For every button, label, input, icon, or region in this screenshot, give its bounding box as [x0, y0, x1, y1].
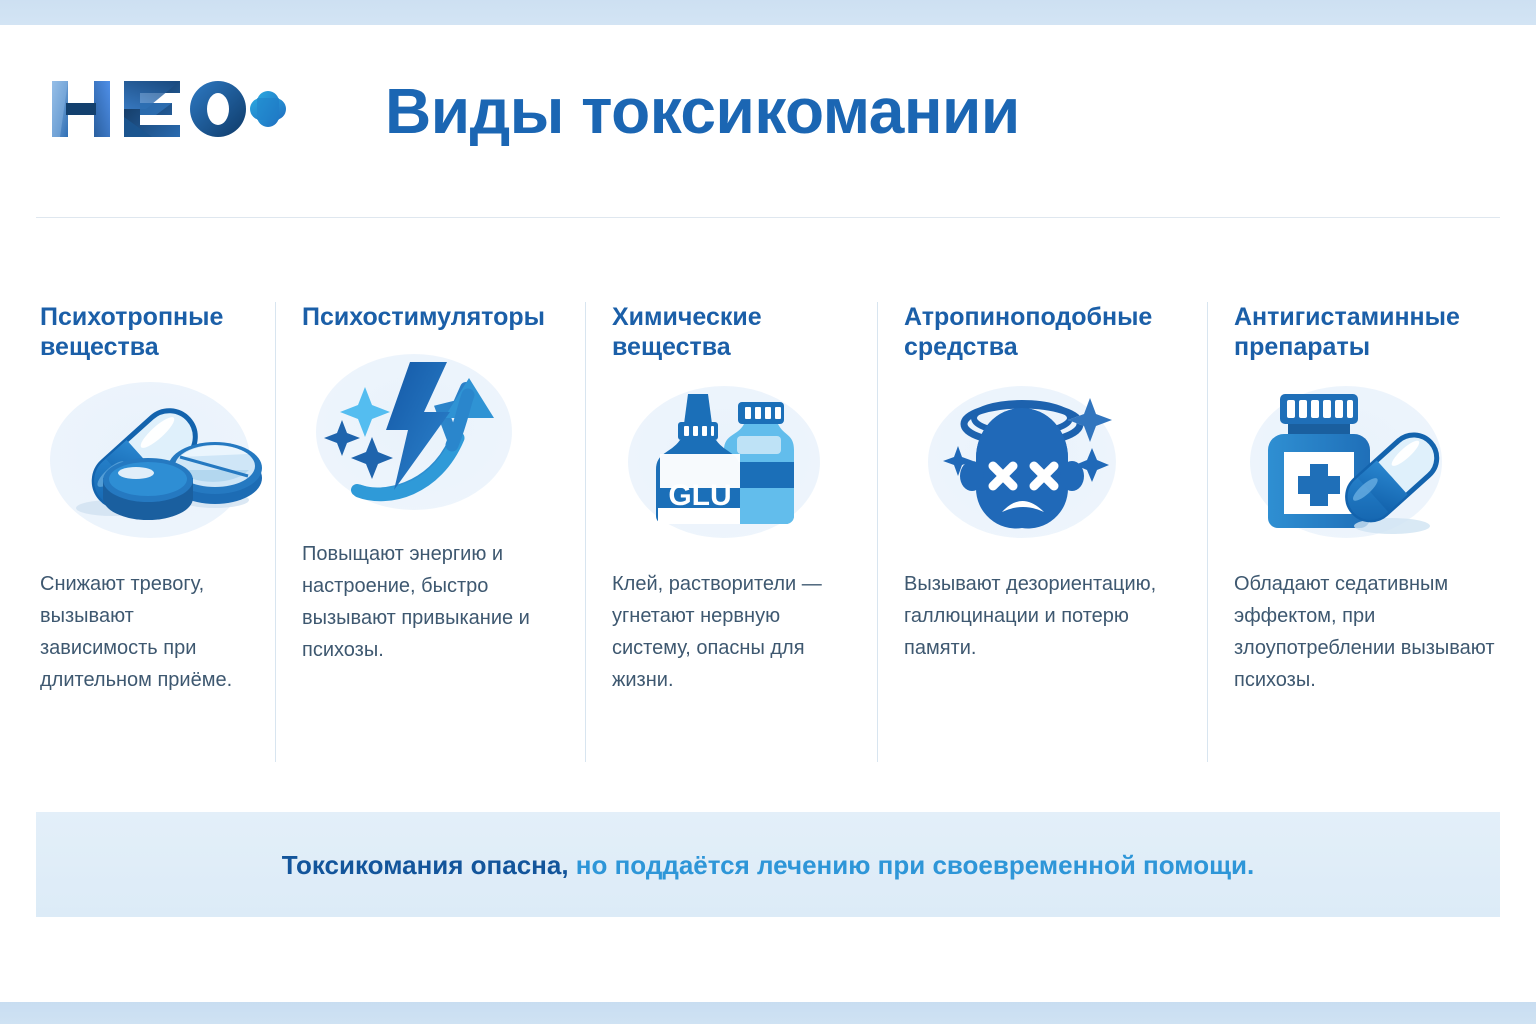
glue-solvent-bottles-icon: GLU — [612, 380, 852, 550]
medicine-bottle-capsule-icon — [1234, 380, 1506, 550]
neo-plus-logo — [46, 73, 286, 145]
top-decor-band — [0, 0, 1536, 25]
page-title: Виды токсикомании — [385, 73, 1020, 149]
bottom-decor-band — [0, 1002, 1536, 1024]
column-heading: Психотропные вещества — [40, 302, 250, 362]
column-heading: Психостимуляторы — [302, 302, 560, 332]
lightning-bolt-arrow-icon — [302, 350, 560, 520]
summary-banner: Токсикомания опасна, но поддаётся лечени… — [36, 812, 1500, 917]
column-body: Обладают седативным эффектом, при злоупо… — [1234, 568, 1506, 696]
category-columns: Психотропные вещества — [0, 280, 1536, 770]
column-atropine-like: Атропиноподобные средства — [878, 280, 1208, 770]
glue-bottle-label: GLU — [668, 479, 731, 512]
column-chemicals: Химические вещества — [586, 280, 878, 770]
column-body: Повыщают энергию и настроение, быстро вы… — [302, 538, 560, 666]
header: Виды токсикомании — [0, 25, 1536, 185]
dizzy-face-icon — [904, 380, 1182, 550]
column-heading: Антигистаминные препараты — [1234, 302, 1506, 362]
pills-capsule-icon — [40, 380, 250, 550]
summary-strong: Токсикомания опасна, — [282, 850, 569, 880]
column-psychotropic: Психотропные вещества — [0, 280, 276, 770]
column-heading: Химические вещества — [612, 302, 852, 362]
header-divider — [36, 217, 1500, 218]
column-heading: Атропиноподобные средства — [904, 302, 1182, 362]
summary-banner-text: Токсикомания опасна, но поддаётся лечени… — [282, 850, 1254, 880]
column-body: Снижают тревогу, вызывают зависимость пр… — [40, 568, 250, 696]
column-psychostimulants: Психостимуляторы — [276, 280, 586, 770]
summary-light: но поддаётся лечению при своевременной п… — [569, 850, 1255, 880]
column-body: Клей, растворители — угнетают нервную си… — [612, 568, 852, 696]
column-antihistamines: Антигистаминные препараты — [1208, 280, 1536, 770]
column-body: Вызывают дезориентацию, галлюцинации и п… — [904, 568, 1182, 664]
infographic-page: Виды токсикомании Психотропные вещества — [0, 25, 1536, 1002]
